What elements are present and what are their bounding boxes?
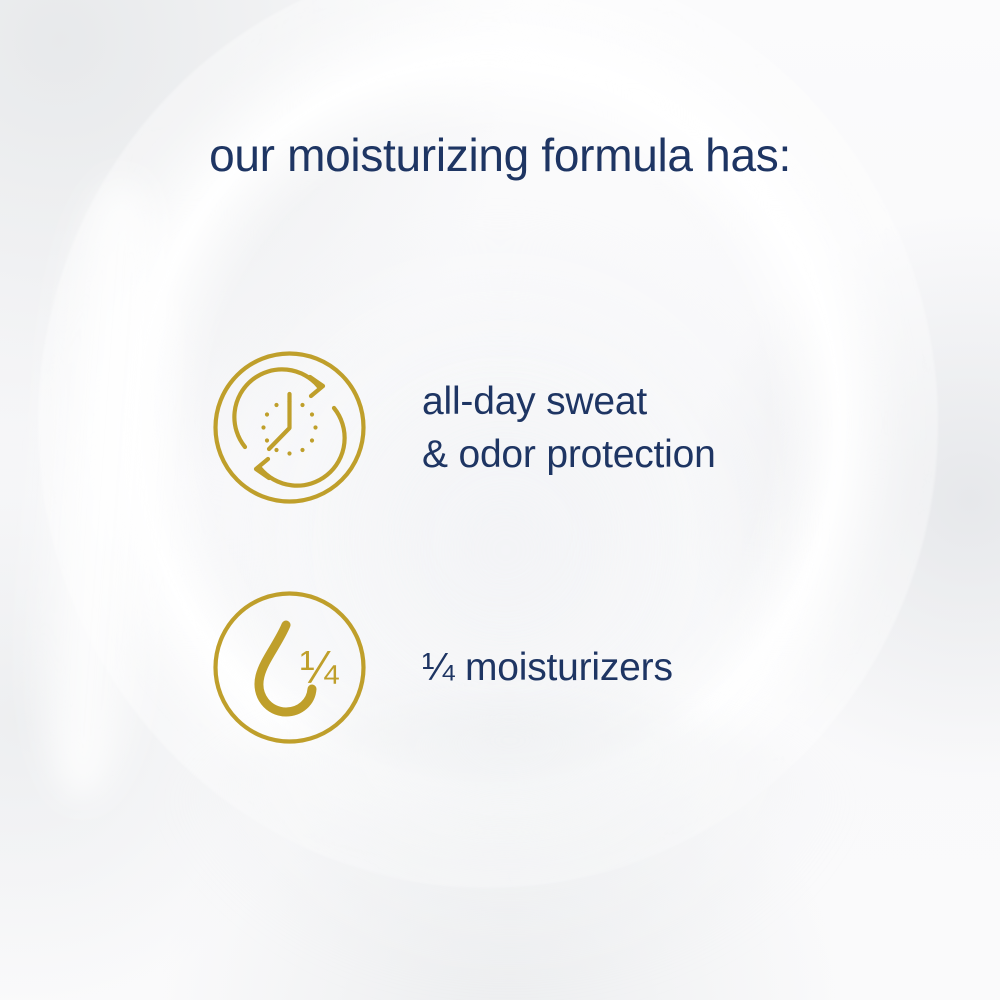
page-title: our moisturizing formula has: [0, 128, 1000, 182]
benefit-item-moisturizers: ¼ ¼ moisturizers [212, 590, 673, 745]
benefit-label-protection: all-day sweat & odor protection [422, 375, 716, 481]
benefit-item-protection: all-day sweat & odor protection [212, 350, 716, 505]
benefit-label-moisturizers: ¼ moisturizers [422, 641, 673, 694]
quarter-moisturizer-droplet-icon: ¼ [212, 590, 367, 745]
benefits-panel: our moisturizing formula has: [0, 0, 1000, 1000]
clock-rotate-icon [212, 350, 367, 505]
droplet-fraction-label: ¼ [300, 641, 339, 693]
